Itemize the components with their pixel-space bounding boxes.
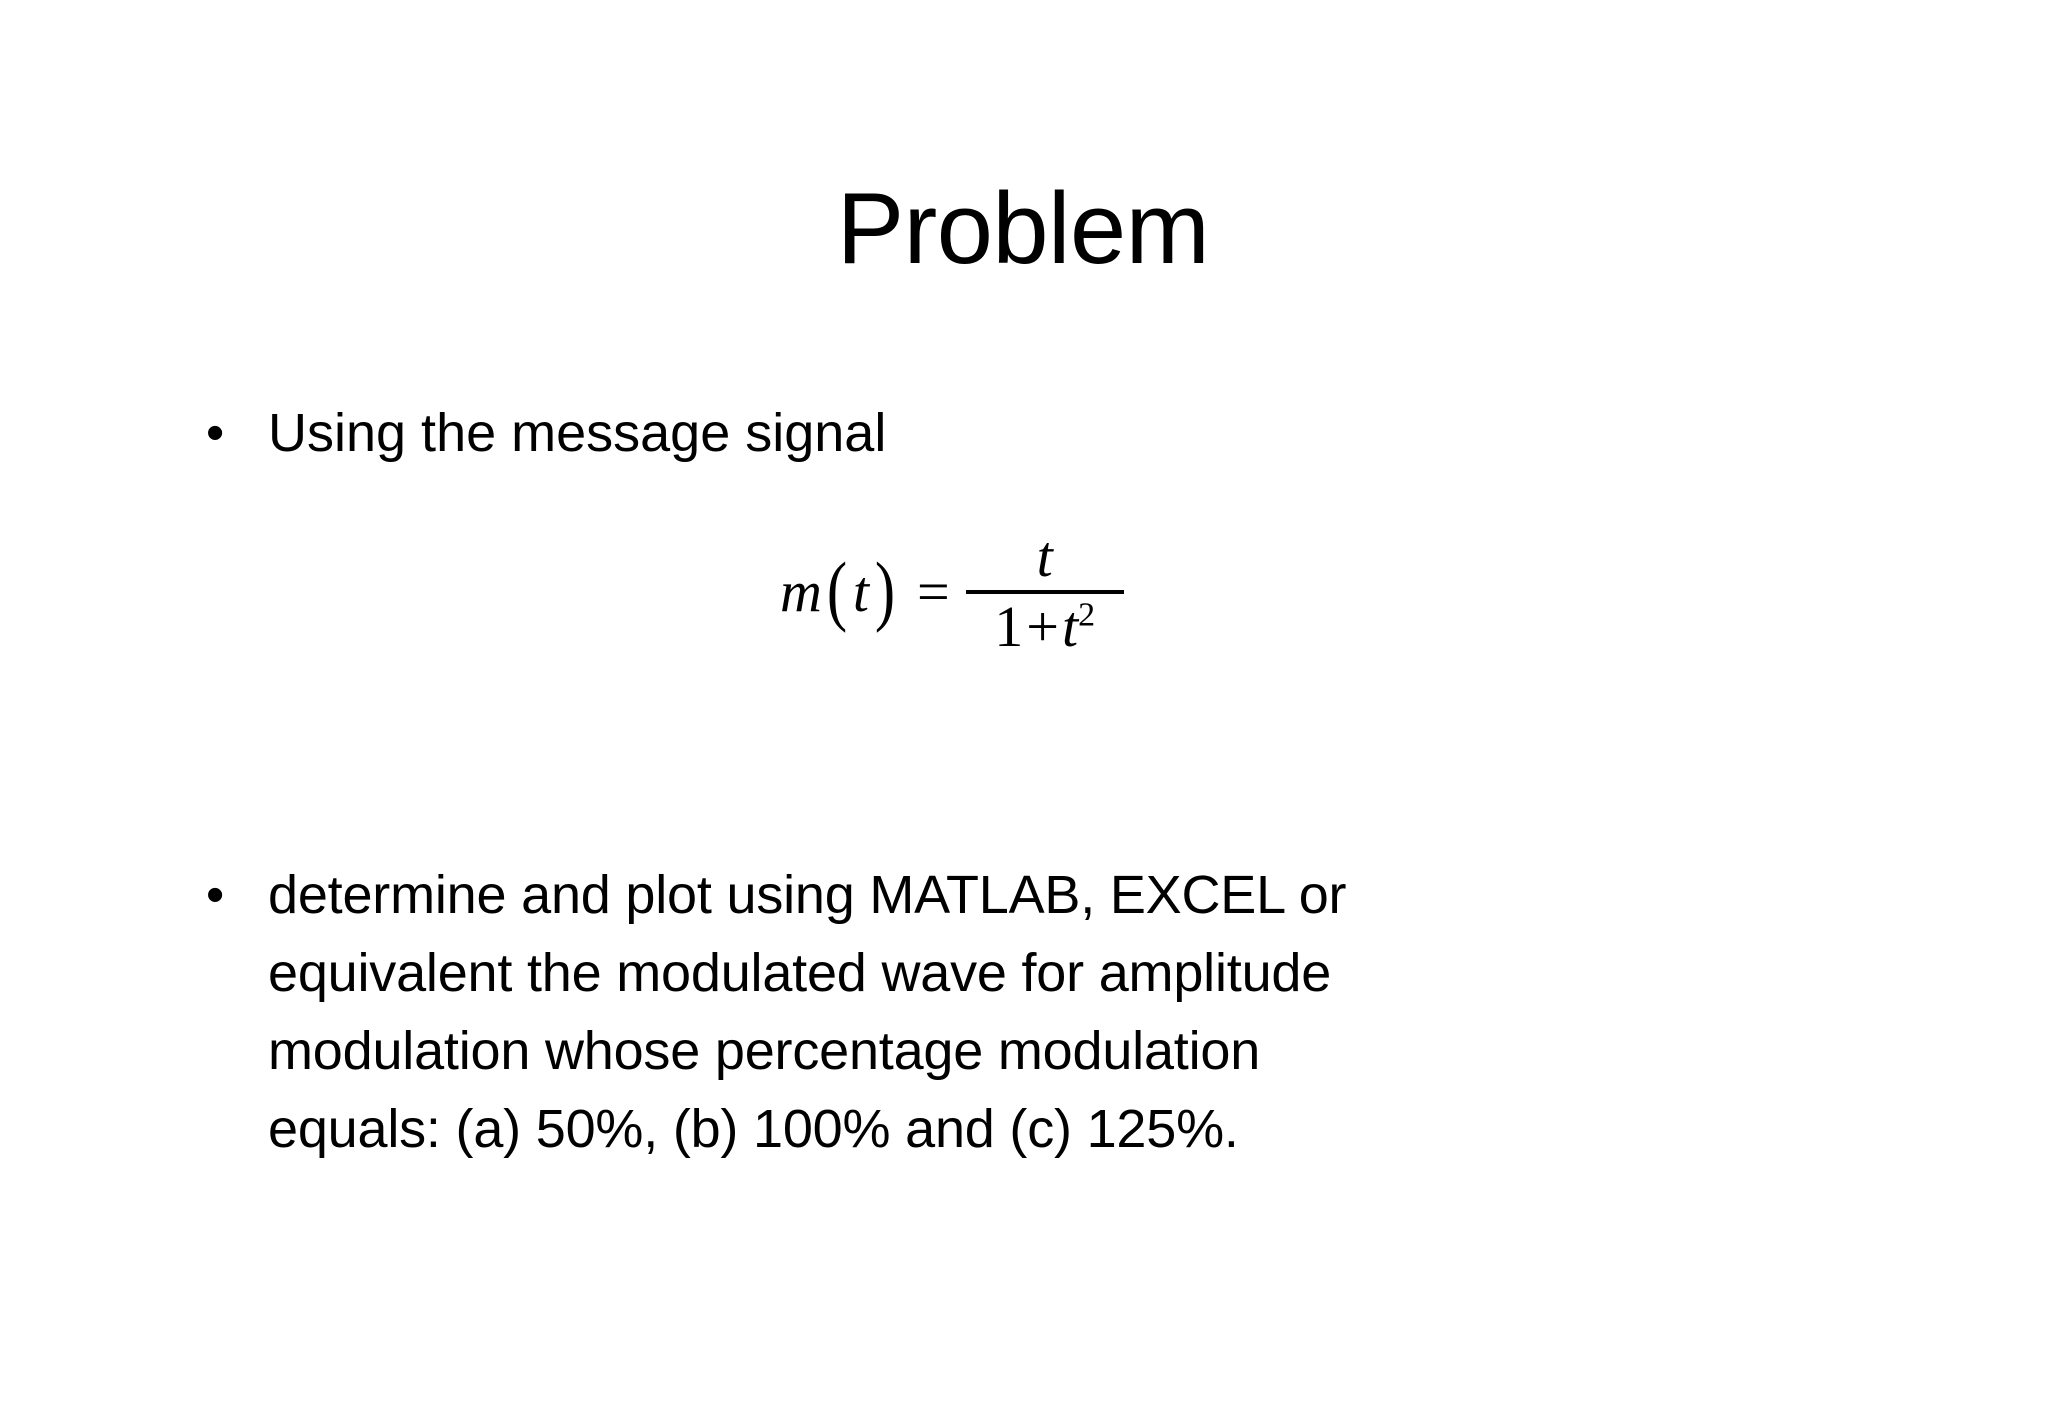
equation-open-paren: (: [826, 560, 848, 621]
equation-variable-m: m: [780, 563, 823, 621]
equation-argument-t: t: [851, 563, 871, 621]
equation-denominator: 1+t2: [994, 594, 1095, 656]
bullet-item-message-signal: • Using the message signal: [198, 394, 1898, 472]
equation-close-paren: ): [874, 560, 896, 621]
bullet-line: equivalent the modulated wave for amplit…: [268, 934, 1958, 1012]
bullet-line: equals: (a) 50%, (b) 100% and (c) 125%.: [268, 1090, 1958, 1168]
bullet-marker-icon: •: [198, 856, 268, 934]
page-title: Problem: [0, 176, 2046, 282]
bullet-line: determine and plot using MATLAB, EXCEL o…: [268, 856, 1958, 934]
bullet-text-determine-plot: determine and plot using MATLAB, EXCEL o…: [268, 856, 1958, 1168]
equation-numerator: t: [1037, 528, 1053, 590]
bullet-marker-icon: •: [198, 394, 268, 472]
equation-fraction: t 1+t2: [966, 528, 1124, 656]
bullet-text-message-signal: Using the message signal: [268, 394, 1898, 472]
slide-canvas: Problem • Using the message signal m ( t…: [0, 0, 2046, 1428]
equation-equals-sign: =: [899, 558, 966, 625]
equation-denominator-variable: t: [1062, 594, 1078, 659]
equation-left-hand-side: m ( t ): [780, 562, 899, 623]
equation-message-signal: m ( t ) = t 1+t2: [780, 528, 1124, 656]
equation-denominator-one: 1: [994, 594, 1023, 659]
bullet-line: modulation whose percentage modulation: [268, 1012, 1958, 1090]
bullet-item-determine-plot: • determine and plot using MATLAB, EXCEL…: [198, 856, 1958, 1168]
equation-denominator-exponent: 2: [1078, 597, 1095, 634]
equation-denominator-plus: +: [1023, 594, 1062, 659]
